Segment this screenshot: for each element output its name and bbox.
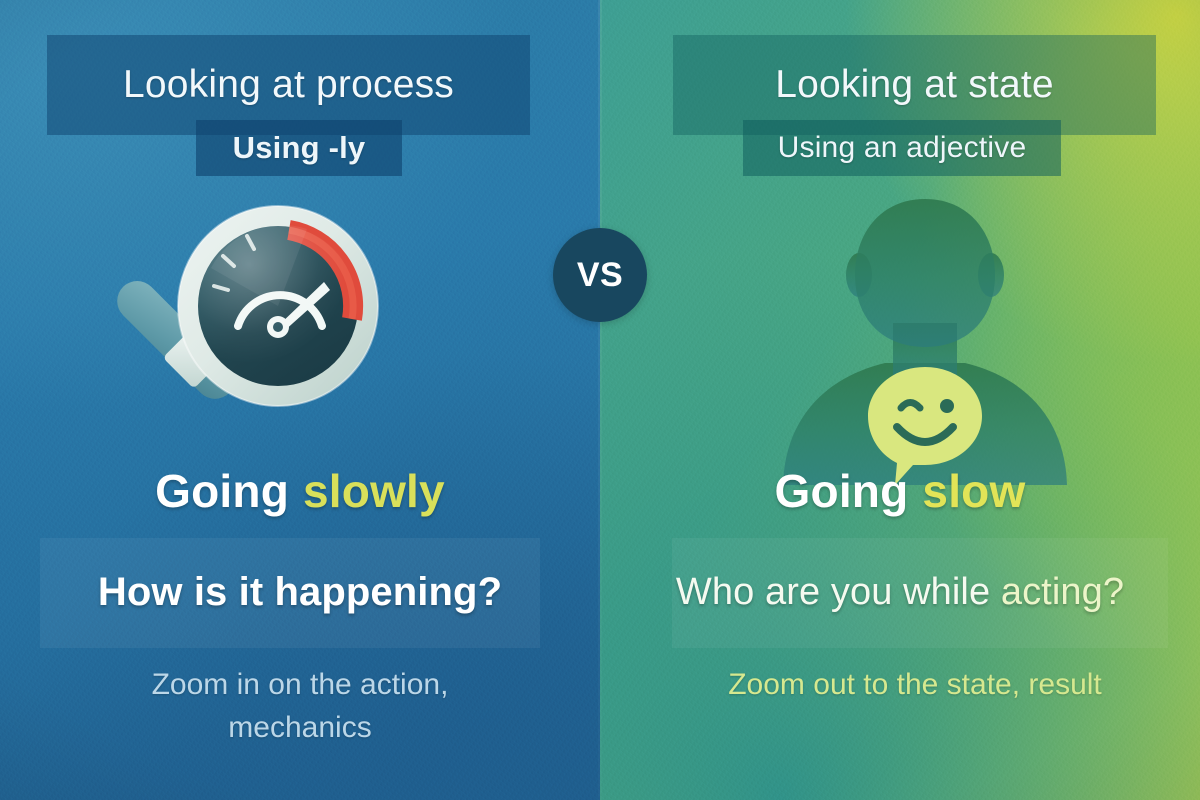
left-header-sub-bar: Using -ly bbox=[196, 120, 402, 176]
panel-divider bbox=[598, 0, 602, 800]
vs-label: VS bbox=[577, 256, 623, 295]
right-question-plain: Who are you while bbox=[676, 571, 1001, 613]
right-phrase: Going slow bbox=[600, 460, 1200, 522]
left-phrase: Going slowly bbox=[0, 460, 600, 522]
person-silhouette-speech-bubble-smiley-icon bbox=[775, 195, 1075, 485]
comparison-infographic: Looking at process Using -ly Looking at … bbox=[0, 0, 1200, 800]
magnifying-glass-speedometer-icon bbox=[75, 198, 425, 488]
left-header-sub-text: Using -ly bbox=[233, 130, 366, 166]
right-phrase-word-1: Going bbox=[775, 464, 909, 518]
right-header-sub-text: Using an adjective bbox=[778, 131, 1027, 165]
right-question-accent: acting? bbox=[1001, 571, 1124, 613]
left-phrase-word-1: Going bbox=[155, 464, 289, 518]
right-phrase-word-2: slow bbox=[922, 464, 1025, 518]
right-header-main-text: Looking at state bbox=[775, 63, 1054, 107]
vs-badge: VS bbox=[553, 228, 647, 322]
right-caption: Zoom out to the state, result bbox=[665, 664, 1165, 707]
right-question-text: Who are you while acting? bbox=[676, 571, 1124, 614]
left-header-main-text: Looking at process bbox=[123, 63, 454, 107]
left-question: How is it happening? bbox=[0, 560, 600, 624]
left-question-text: How is it happening? bbox=[98, 570, 502, 615]
right-header-sub-bar: Using an adjective bbox=[743, 120, 1061, 176]
right-question: Who are you while acting? bbox=[600, 560, 1200, 624]
left-caption: Zoom in on the action, mechanics bbox=[60, 664, 540, 749]
left-phrase-word-2: slowly bbox=[303, 464, 445, 518]
